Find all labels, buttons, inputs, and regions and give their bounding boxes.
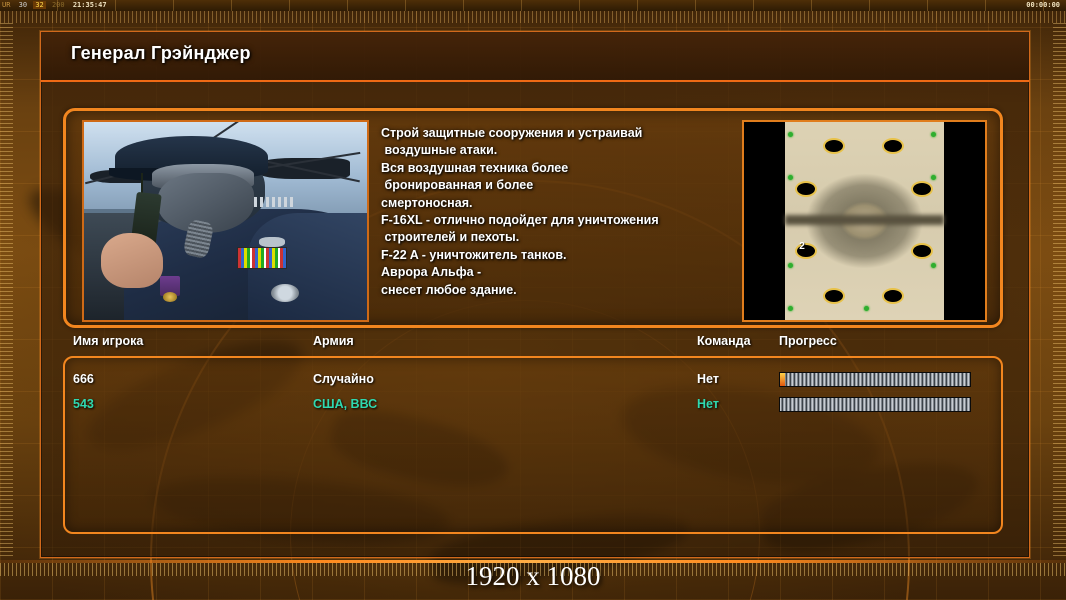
progress-fill [780, 373, 970, 386]
minimap-start-position [823, 138, 845, 154]
player-name: 666 [73, 372, 94, 386]
window-title-bar: Генерал Грэйнджер [41, 32, 1029, 82]
minimap-position-marker: 2 [799, 241, 805, 252]
player-table: Имя игрока Армия Команда Прогресс 666 Сл… [63, 334, 1003, 534]
minimap-start-position [911, 181, 933, 197]
player-progress-bar [779, 397, 971, 412]
table-row[interactable]: 666 Случайно Нет [65, 368, 1001, 393]
page-title: Генерал Грэйнджер [71, 43, 251, 64]
status-bar-cells [0, 0, 1066, 11]
status-timer-right: 00:00:00 [1026, 0, 1060, 11]
general-description: Строй защитные сооружения и устраивай во… [381, 125, 756, 317]
minimap-river [785, 215, 944, 225]
minimap-supply-point [931, 132, 936, 137]
minimap-supply-point [788, 306, 793, 311]
ribbon-rack-icon [237, 247, 287, 269]
player-team[interactable]: Нет [697, 397, 719, 411]
minimap-supply-point [864, 306, 869, 311]
minimap-start-position [795, 243, 817, 259]
rank-stars-icon [254, 197, 294, 207]
player-army[interactable]: США, ВВС [313, 397, 377, 411]
column-header-team: Команда [697, 334, 751, 348]
column-header-name: Имя игрока [73, 334, 143, 348]
column-header-progress: Прогресс [779, 334, 837, 348]
game-lobby-screen: UR 30 32 200 21:35:47 00:00:00 Генерал Г… [0, 0, 1066, 600]
player-name: 543 [73, 397, 94, 411]
minimap-preview: 2 [742, 120, 987, 322]
minimap-supply-point [788, 263, 793, 268]
top-ruler [0, 11, 1066, 23]
minimap-start-position [823, 288, 845, 304]
lobby-window: Генерал Грэйнджер [40, 31, 1030, 558]
player-army[interactable]: Случайно [313, 372, 374, 386]
left-ruler [0, 23, 13, 556]
player-progress-bar [779, 372, 971, 387]
player-team[interactable]: Нет [697, 372, 719, 386]
minimap-start-position [882, 288, 904, 304]
general-info-panel: Строй защитные сооружения и устраивай во… [63, 108, 1003, 328]
minimap-start-position [882, 138, 904, 154]
resolution-overlay: 1920 x 1080 [0, 561, 1066, 592]
minimap-start-position [795, 181, 817, 197]
player-table-header: Имя игрока Армия Команда Прогресс [63, 334, 1003, 356]
status-bar: UR 30 32 200 21:35:47 00:00:00 [0, 0, 1066, 11]
pilot-wings-icon [259, 237, 284, 247]
table-row[interactable]: 543 США, ВВС Нет [65, 393, 1001, 418]
general-portrait [82, 120, 369, 322]
column-header-army: Армия [313, 334, 354, 348]
minimap-start-position [911, 243, 933, 259]
right-ruler [1053, 23, 1066, 556]
minimap-supply-point [931, 175, 936, 180]
progress-cap [780, 373, 785, 386]
minimap-supply-point [788, 132, 793, 137]
minimap-supply-point [931, 263, 936, 268]
progress-fill [780, 398, 970, 411]
player-table-body: 666 Случайно Нет 543 США, ВВС Нет [63, 356, 1003, 534]
minimap-supply-point [788, 175, 793, 180]
portrait-hand [101, 233, 163, 288]
minimap-terrain: 2 [785, 122, 944, 320]
